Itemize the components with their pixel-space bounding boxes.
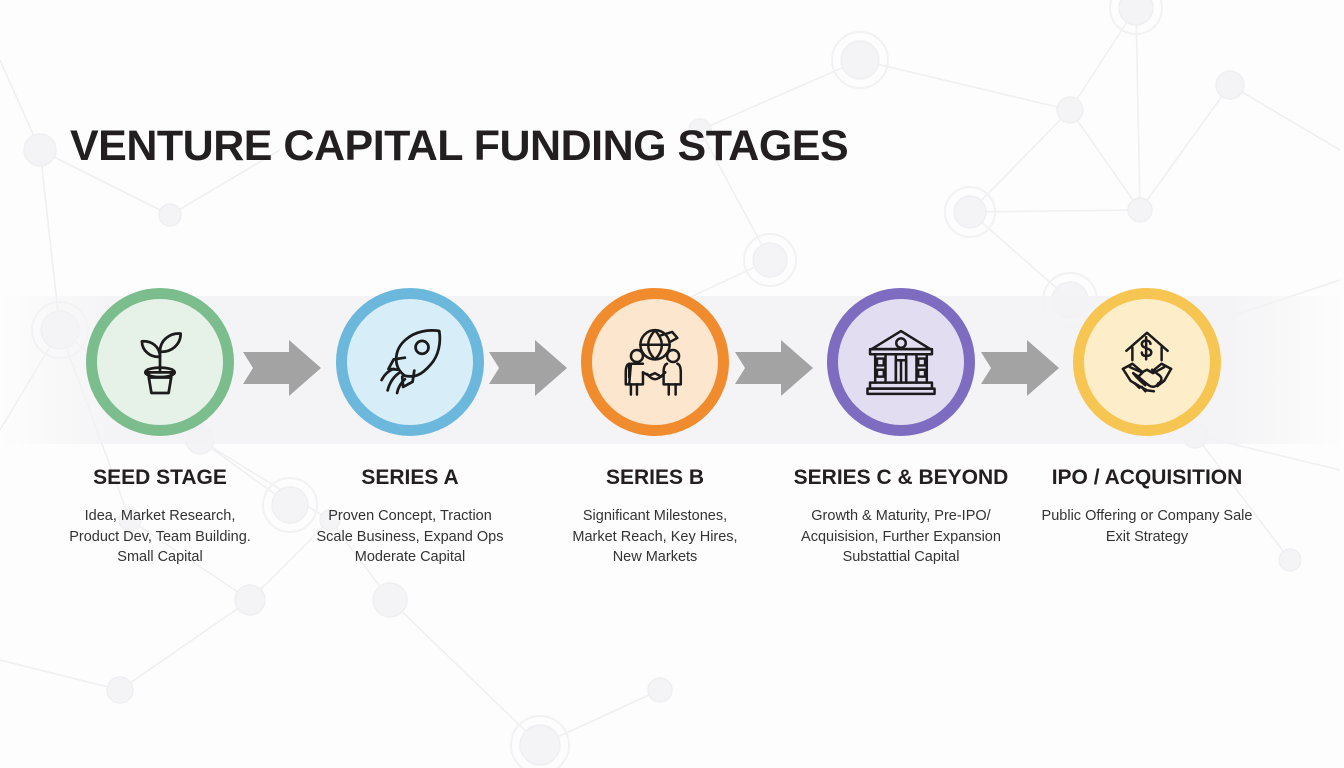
arrow-series-c-to-ipo (979, 338, 1061, 398)
right-arrow-icon (487, 338, 569, 398)
right-arrow-icon (241, 338, 323, 398)
stage-icon-circle-series-a (336, 288, 484, 436)
stage-title-series-b: SERIES B (531, 466, 779, 490)
stage-description-series-c-and-beyond: Growth & Maturity, Pre-IPO/ Acquisision,… (777, 506, 1025, 568)
stage-title-series-c-and-beyond: SERIES C & BEYOND (777, 466, 1025, 490)
stage-series-c-and-beyond[interactable]: SERIES C & BEYOND Growth & Maturity, Pre… (777, 288, 1025, 568)
stage-description-ipo-acquisition: Public Offering or Company Sale Exit Str… (1023, 506, 1271, 547)
stage-icon-circle-series-c-and-beyond (827, 288, 975, 436)
stage-icon-circle-seed-stage (86, 288, 234, 436)
stage-icon-circle-ipo-acquisition (1073, 288, 1221, 436)
stage-title-seed-stage: SEED STAGE (36, 466, 284, 490)
stage-description-seed-stage: Idea, Market Research, Product Dev, Team… (36, 506, 284, 568)
stage-series-b[interactable]: SERIES B Significant Milestones, Market … (531, 288, 779, 568)
infographic-canvas: VENTURE CAPITAL FUNDING STAGES SEED STAG… (0, 0, 1344, 768)
rocket-icon (367, 319, 453, 405)
arrow-series-a-to-series-b (487, 338, 569, 398)
right-arrow-icon (979, 338, 1061, 398)
handshake-dollar-icon (1104, 319, 1190, 405)
global-partnership-icon (612, 319, 698, 405)
right-arrow-icon (733, 338, 815, 398)
stage-description-series-a: Proven Concept, Traction Scale Business,… (286, 506, 534, 568)
arrow-seed-to-series-a (241, 338, 323, 398)
stage-seed-stage[interactable]: SEED STAGE Idea, Market Research, Produc… (36, 288, 284, 568)
stage-series-a[interactable]: SERIES A Proven Concept, Traction Scale … (286, 288, 534, 568)
seedling-icon (117, 319, 203, 405)
stages-row: SEED STAGE Idea, Market Research, Produc… (0, 0, 1344, 768)
stage-description-series-b: Significant Milestones, Market Reach, Ke… (531, 506, 779, 568)
stage-title-ipo-acquisition: IPO / ACQUISITION (1023, 466, 1271, 490)
stage-title-series-a: SERIES A (286, 466, 534, 490)
bank-building-icon (858, 319, 944, 405)
stage-icon-circle-series-b (581, 288, 729, 436)
arrow-series-b-to-series-c (733, 338, 815, 398)
stage-ipo-acquisition[interactable]: IPO / ACQUISITION Public Offering or Com… (1023, 288, 1271, 547)
